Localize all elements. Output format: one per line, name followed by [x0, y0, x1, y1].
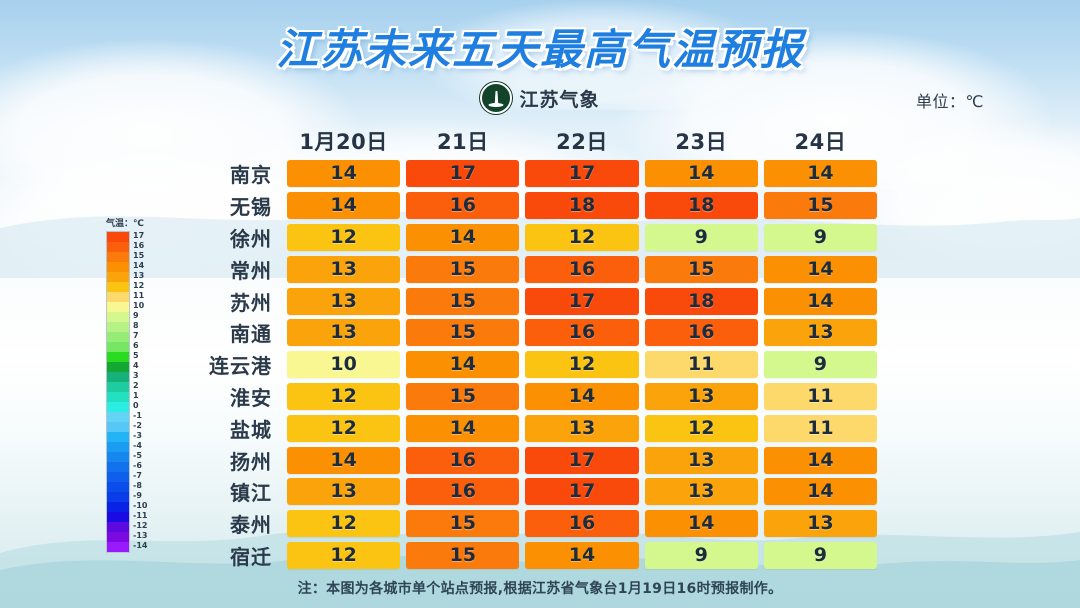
- legend-tick-label: 8: [133, 321, 147, 331]
- temperature-cell: 9: [645, 542, 758, 569]
- temperature-cell: 12: [287, 224, 400, 251]
- legend-swatch: [107, 352, 129, 362]
- temperature-cell: 11: [764, 383, 877, 410]
- table-header-row: 1月20日21日22日23日24日: [188, 124, 880, 158]
- legend-swatch: [107, 482, 129, 492]
- legend-swatch: [107, 392, 129, 402]
- legend-tick-label: 12: [133, 281, 147, 291]
- temperature-cell: 15: [406, 288, 519, 315]
- table-row: 盐城1214131211: [188, 412, 880, 444]
- temperature-cell: 16: [525, 510, 638, 537]
- legend-swatch: [107, 382, 129, 392]
- temperature-cell: 13: [287, 288, 400, 315]
- column-header-date: 21日: [406, 126, 519, 156]
- table-row: 淮安1215141311: [188, 381, 880, 413]
- temperature-cell: 14: [287, 160, 400, 187]
- legend-tick-label: 7: [133, 331, 147, 341]
- legend-tick-label: -3: [133, 431, 147, 441]
- temperature-cell: 18: [645, 288, 758, 315]
- temperature-cell: 11: [764, 415, 877, 442]
- temperature-cell: 11: [645, 351, 758, 378]
- temperature-cell: 9: [764, 542, 877, 569]
- temperature-cell: 13: [764, 510, 877, 537]
- legend-swatch: [107, 322, 129, 332]
- legend-swatch: [107, 522, 129, 532]
- temperature-cell: 15: [406, 256, 519, 283]
- row-city-label: 盐城: [188, 414, 284, 443]
- legend-swatch: [107, 252, 129, 262]
- temperature-cell: 15: [764, 192, 877, 219]
- row-city-label: 无锡: [188, 191, 284, 220]
- temperature-cell: 17: [406, 160, 519, 187]
- temperature-cell: 14: [287, 447, 400, 474]
- temperature-cell: 15: [406, 319, 519, 346]
- table-row: 南通1315161613: [188, 317, 880, 349]
- legend-swatch: [107, 342, 129, 352]
- legend-tick-label: -13: [133, 531, 147, 541]
- temperature-cell: 15: [406, 383, 519, 410]
- footer-note: 注：本图为各城市单个站点预报,根据江苏省气象台1月19日16时预报制作。: [0, 578, 1080, 598]
- temperature-cell: 13: [645, 478, 758, 505]
- table-row: 扬州1416171314: [188, 444, 880, 476]
- temperature-cell: 12: [287, 510, 400, 537]
- row-city-label: 淮安: [188, 382, 284, 411]
- column-header-date: 22日: [525, 126, 638, 156]
- legend-swatch: [107, 502, 129, 512]
- legend-swatch: [107, 372, 129, 382]
- legend-swatch: [107, 412, 129, 422]
- table-row: 南京1417171414: [188, 158, 880, 190]
- column-header-date: 1月20日: [287, 126, 400, 156]
- column-header-date: 24日: [764, 126, 877, 156]
- row-city-label: 徐州: [188, 223, 284, 252]
- table-body: 南京1417171414无锡1416181815徐州12141299常州1315…: [188, 158, 880, 571]
- title-container: 江苏未来五天最高气温预报: [0, 16, 1080, 77]
- temperature-cell: 14: [764, 288, 877, 315]
- temperature-cell: 14: [645, 160, 758, 187]
- temperature-cell: 14: [764, 447, 877, 474]
- temperature-cell: 13: [287, 319, 400, 346]
- temperature-cell: 13: [764, 319, 877, 346]
- legend-swatch: [107, 532, 129, 542]
- temperature-cell: 17: [525, 288, 638, 315]
- table-row: 泰州1215161413: [188, 508, 880, 540]
- temperature-cell: 14: [406, 415, 519, 442]
- temperature-cell: 15: [645, 256, 758, 283]
- legend-tick-label: 6: [133, 341, 147, 351]
- legend-swatch: [107, 302, 129, 312]
- forecast-table: 1月20日21日22日23日24日 南京1417171414无锡14161818…: [188, 124, 880, 571]
- column-header-date: 23日: [645, 126, 758, 156]
- legend-tick-label: -14: [133, 541, 147, 551]
- temperature-cell: 17: [525, 447, 638, 474]
- brand-label: 江苏气象: [519, 85, 599, 112]
- legend-tick-label: -7: [133, 471, 147, 481]
- temperature-cell: 9: [645, 224, 758, 251]
- legend-colorbar: [106, 231, 130, 553]
- table-row: 常州1315161514: [188, 253, 880, 285]
- row-city-label: 南京: [188, 159, 284, 188]
- temperature-cell: 12: [287, 415, 400, 442]
- legend-tick-label: -9: [133, 491, 147, 501]
- temperature-cell: 16: [406, 447, 519, 474]
- temperature-cell: 16: [406, 478, 519, 505]
- legend-tick-label: 4: [133, 361, 147, 371]
- legend-tick-label: 1: [133, 391, 147, 401]
- legend-swatch: [107, 442, 129, 452]
- temperature-cell: 12: [645, 415, 758, 442]
- legend-tick-label: -4: [133, 441, 147, 451]
- temperature-cell: 13: [645, 447, 758, 474]
- temperature-cell: 15: [406, 542, 519, 569]
- legend-tick-label: 14: [133, 261, 147, 271]
- temperature-cell: 13: [645, 383, 758, 410]
- row-city-label: 镇江: [188, 477, 284, 506]
- legend-swatch: [107, 462, 129, 472]
- temperature-cell: 10: [287, 351, 400, 378]
- legend-tick-label: 2: [133, 381, 147, 391]
- table-row: 镇江1316171314: [188, 476, 880, 508]
- forecast-infographic: 江苏未来五天最高气温预报 江苏气象 单位：℃ 气温：℃ 171615141312…: [0, 0, 1080, 608]
- legend-swatch: [107, 272, 129, 282]
- legend-swatch: [107, 282, 129, 292]
- temperature-cell: 14: [287, 192, 400, 219]
- legend-title: 气温：℃: [106, 216, 164, 229]
- row-city-label: 泰州: [188, 509, 284, 538]
- temperature-cell: 14: [764, 478, 877, 505]
- legend-tick-label: -6: [133, 461, 147, 471]
- row-city-label: 扬州: [188, 446, 284, 475]
- page-title: 江苏未来五天最高气温预报: [276, 16, 804, 77]
- temperature-cell: 13: [525, 415, 638, 442]
- temperature-cell: 13: [287, 478, 400, 505]
- legend-tick-label: 17: [133, 231, 147, 241]
- legend-tick-label: 0: [133, 401, 147, 411]
- legend-tick-label: -1: [133, 411, 147, 421]
- temperature-cell: 12: [525, 351, 638, 378]
- temperature-cell: 12: [525, 224, 638, 251]
- legend-swatch: [107, 422, 129, 432]
- temperature-cell: 12: [287, 383, 400, 410]
- jiangsu-meteorology-emblem-icon: [480, 82, 512, 114]
- table-row: 无锡1416181815: [188, 190, 880, 222]
- temperature-cell: 14: [525, 383, 638, 410]
- temperature-cell: 16: [406, 192, 519, 219]
- temperature-cell: 14: [525, 542, 638, 569]
- temperature-cell: 13: [287, 256, 400, 283]
- temperature-cell: 14: [406, 351, 519, 378]
- temperature-cell: 17: [525, 160, 638, 187]
- legend-swatch: [107, 542, 129, 552]
- legend-tick-label: -10: [133, 501, 147, 511]
- temperature-cell: 9: [764, 224, 877, 251]
- legend-tick-label: 16: [133, 241, 147, 251]
- temperature-cell: 16: [525, 319, 638, 346]
- legend-tick-label: -12: [133, 521, 147, 531]
- temperature-cell: 14: [406, 224, 519, 251]
- legend-tick-labels: 17161514131211109876543210-1-2-3-4-5-6-7…: [133, 231, 147, 553]
- temperature-cell: 18: [525, 192, 638, 219]
- legend-tick-label: 11: [133, 291, 147, 301]
- legend-tick-label: 15: [133, 251, 147, 261]
- temperature-cell: 9: [764, 351, 877, 378]
- legend-tick-label: -2: [133, 421, 147, 431]
- legend-swatch: [107, 472, 129, 482]
- legend-swatch: [107, 292, 129, 302]
- temperature-cell: 14: [764, 160, 877, 187]
- temperature-cell: 15: [406, 510, 519, 537]
- temperature-cell: 17: [525, 478, 638, 505]
- temperature-cell: 18: [645, 192, 758, 219]
- legend-swatch: [107, 332, 129, 342]
- row-city-label: 宿迁: [188, 541, 284, 570]
- temperature-cell: 16: [525, 256, 638, 283]
- table-row: 苏州1315171814: [188, 285, 880, 317]
- unit-label: 单位：℃: [916, 88, 984, 112]
- temperature-cell: 14: [764, 256, 877, 283]
- temperature-cell: 14: [645, 510, 758, 537]
- legend-tick-label: 13: [133, 271, 147, 281]
- table-row: 连云港101412119: [188, 349, 880, 381]
- legend-swatch: [107, 452, 129, 462]
- legend-swatch: [107, 232, 129, 242]
- temperature-cell: 16: [645, 319, 758, 346]
- legend-swatch: [107, 512, 129, 522]
- legend-tick-label: 9: [133, 311, 147, 321]
- legend-swatch: [107, 262, 129, 272]
- legend-tick-label: 5: [133, 351, 147, 361]
- row-city-label: 苏州: [188, 287, 284, 316]
- legend-swatch: [107, 362, 129, 372]
- legend-tick-label: 3: [133, 371, 147, 381]
- table-row: 宿迁12151499: [188, 540, 880, 572]
- legend-tick-label: 10: [133, 301, 147, 311]
- legend-swatch: [107, 492, 129, 502]
- legend-tick-label: -8: [133, 481, 147, 491]
- legend-tick-label: -5: [133, 451, 147, 461]
- table-row: 徐州12141299: [188, 222, 880, 254]
- legend-swatch: [107, 402, 129, 412]
- legend-swatch: [107, 312, 129, 322]
- row-city-label: 连云港: [188, 350, 284, 379]
- legend-swatch: [107, 432, 129, 442]
- temperature-cell: 12: [287, 542, 400, 569]
- legend-tick-label: -11: [133, 511, 147, 521]
- row-city-label: 南通: [188, 318, 284, 347]
- row-city-label: 常州: [188, 255, 284, 284]
- legend-swatch: [107, 242, 129, 252]
- temperature-legend: 气温：℃ 17161514131211109876543210-1-2-3-4-…: [106, 216, 164, 553]
